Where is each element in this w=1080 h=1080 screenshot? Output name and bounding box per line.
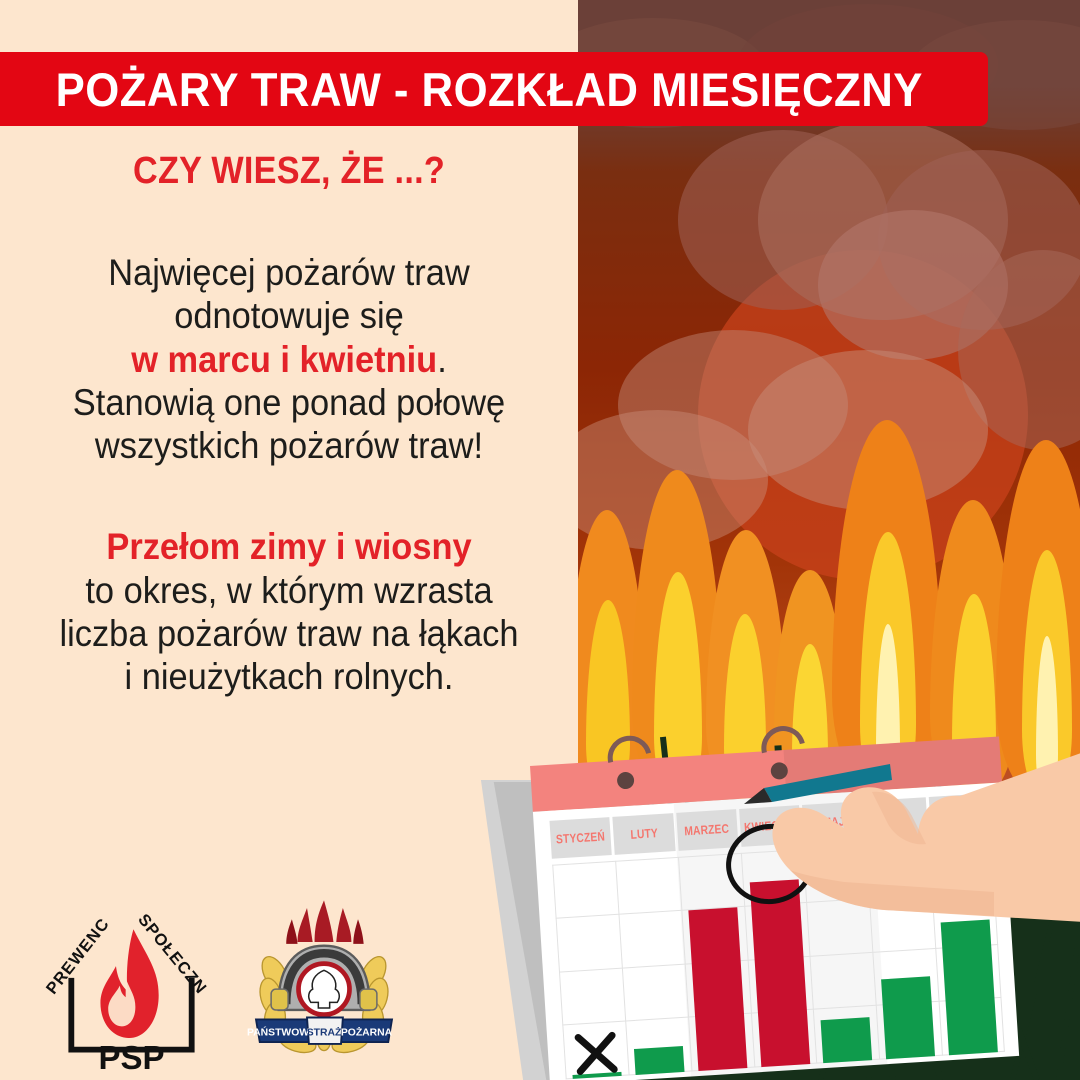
paragraph-two: Przełom zimy i wiosny to okres, w którym…	[47, 525, 531, 698]
panstwowa-straz-pozarna-emblem: PAŃSTWOWA STRAŻ POŻARNA	[239, 896, 409, 1071]
psp-abbrev: PSP	[98, 1039, 164, 1071]
p1-line5: wszystkich pożarów traw!	[47, 424, 531, 467]
psp-arc-left: PREWENCJA	[44, 906, 113, 998]
helmet-side-left	[271, 989, 288, 1010]
p2-line4: i nieużytkach rolnych.	[47, 655, 531, 698]
month-cell-luty[interactable]: LUTY	[613, 813, 676, 855]
page-title: POŻARY TRAW - ROZKŁAD MIESIĘCZNY	[55, 62, 922, 117]
p1-line3: w marcu i kwietniu.	[47, 338, 531, 381]
bar-lipiec[interactable]	[941, 919, 998, 1055]
p2-highlight: Przełom zimy i wiosny	[47, 525, 531, 568]
x-cross-icon	[572, 1029, 621, 1078]
prewencja-spoleczna-psp-logo: PREWENCJA SPOŁECZNA PSP	[44, 906, 219, 1071]
bar-maj[interactable]	[821, 1017, 873, 1063]
p1-line4: Stanowią one ponad połowę	[47, 381, 531, 424]
month-cell-styczen[interactable]: STYCZEŃ	[549, 817, 612, 859]
title-banner: POŻARY TRAW - ROZKŁAD MIESIĘCZNY	[0, 52, 988, 126]
p1-line2: odnotowuje się	[47, 294, 531, 337]
bar-slot-czerwiec	[874, 976, 942, 1059]
bar-slot-luty	[627, 1046, 691, 1076]
text-column: CZY WIESZ, ŻE ...? Najwięcej pożarów tra…	[0, 150, 578, 699]
emblem-flames	[286, 900, 363, 943]
paragraph-one: Najwięcej pożarów traw odnotowuje się w …	[47, 251, 531, 467]
bar-slot-maj	[814, 1017, 879, 1064]
svg-text:PREWENCJA: PREWENCJA	[44, 906, 113, 998]
p1-line1: Najwięcej pożarów traw	[47, 251, 531, 294]
kicker-heading: CZY WIESZ, ŻE ...?	[29, 150, 549, 193]
infographic-poster: POŻARY TRAW - ROZKŁAD MIESIĘCZNY CZY WIE…	[0, 0, 1080, 1080]
p2-line3: liczba pożarów traw na łąkach	[47, 612, 531, 655]
p1-highlight: w marcu i kwietniu	[131, 339, 437, 380]
emblem-text-right: POŻARNA	[341, 1025, 393, 1038]
helmet-side-right	[360, 989, 377, 1010]
bar-slot-lipiec	[934, 919, 1005, 1056]
logo-row: PREWENCJA SPOŁECZNA PSP	[34, 896, 454, 1071]
emblem-text-center: STRAŻ	[307, 1025, 342, 1038]
p1-period: .	[437, 339, 447, 380]
bar-luty[interactable]	[634, 1046, 685, 1075]
p2-line2: to okres, w którym wzrasta	[47, 569, 531, 612]
bar-czerwiec[interactable]	[881, 977, 935, 1059]
hand-illustration	[694, 742, 1080, 932]
